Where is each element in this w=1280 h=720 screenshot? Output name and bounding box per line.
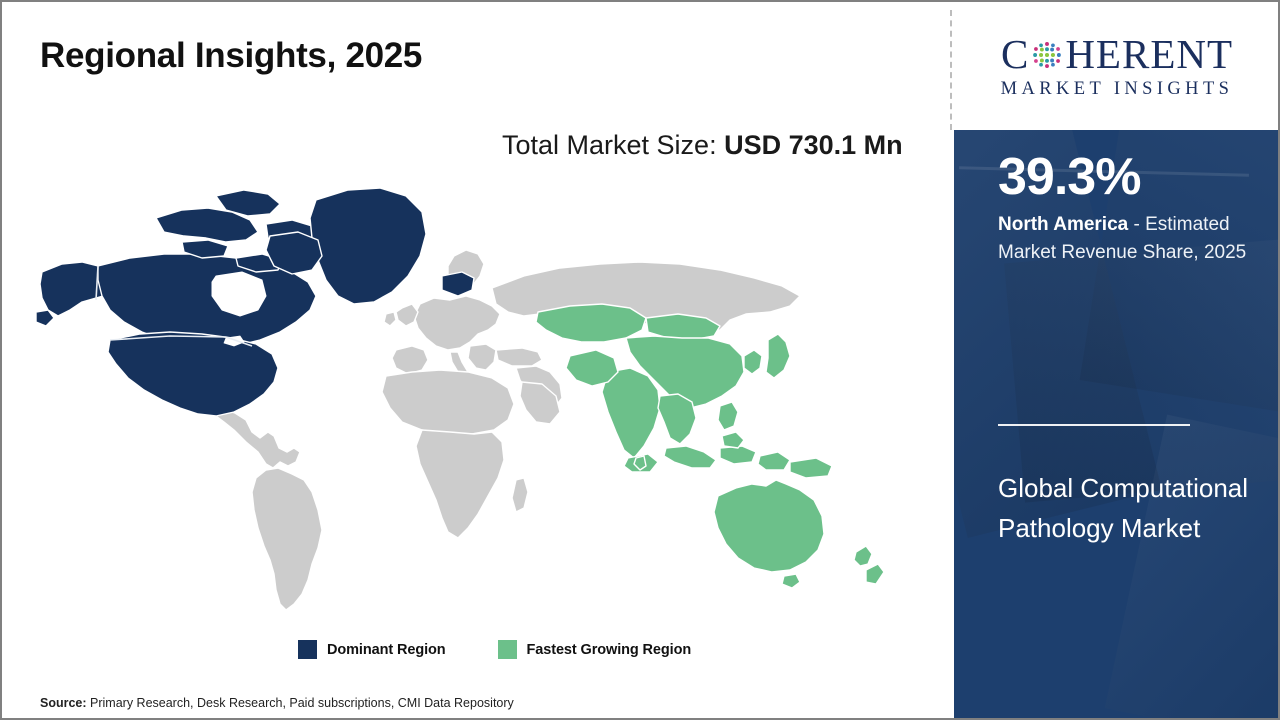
legend-label-fastest-growing: Fastest Growing Region (527, 642, 692, 658)
panel-texture-3 (1004, 237, 1280, 502)
logo-wordmark-before: C (1001, 34, 1029, 75)
brand-logo[interactable]: C (954, 4, 1280, 130)
world-map[interactable] (30, 180, 900, 630)
logo-wordmark-after: HERENT (1065, 34, 1233, 75)
legend-label-dominant: Dominant Region (327, 642, 446, 658)
stat-caption: North America - Estimated Market Revenue… (998, 211, 1268, 266)
slide-frame: Regional Insights, 2025 Total Market Siz… (0, 0, 1280, 720)
stat-divider (998, 424, 1190, 426)
page-title: Regional Insights, 2025 (40, 36, 422, 76)
legend-swatch-fastest-icon (498, 640, 517, 659)
source-label: Source: (40, 696, 87, 710)
stat-region-name: North America (998, 214, 1128, 235)
logo-wordmark: C (1001, 34, 1233, 75)
side-panel: 39.3% North America - Estimated Market R… (954, 130, 1280, 720)
globe-icon (1030, 38, 1064, 72)
market-size-value: USD 730.1 Mn (724, 130, 903, 160)
market-name: Global Computational Pathology Market (998, 468, 1264, 548)
map-legend: Dominant Region Fastest Growing Region (298, 640, 691, 659)
market-size-label: Total Market Size: (502, 130, 724, 160)
stat-value: 39.3% (998, 150, 1268, 205)
total-market-size: Total Market Size: USD 730.1 Mn (502, 126, 922, 164)
panel-divider (950, 10, 952, 130)
legend-item-fastest-growing[interactable]: Fastest Growing Region (498, 640, 692, 659)
legend-swatch-dominant-icon (298, 640, 317, 659)
panel-texture-4 (1105, 415, 1280, 720)
source-note: Source: Primary Research, Desk Research,… (40, 696, 514, 710)
main-content-area: Regional Insights, 2025 Total Market Siz… (2, 2, 950, 718)
stat-block: 39.3% North America - Estimated Market R… (998, 150, 1268, 267)
world-map-svg (30, 180, 900, 630)
logo-subtitle: MARKET INSIGHTS (1001, 79, 1234, 100)
source-text: Primary Research, Desk Research, Paid su… (87, 696, 514, 710)
legend-item-dominant[interactable]: Dominant Region (298, 640, 446, 659)
map-region-fastest-growing (536, 304, 884, 588)
